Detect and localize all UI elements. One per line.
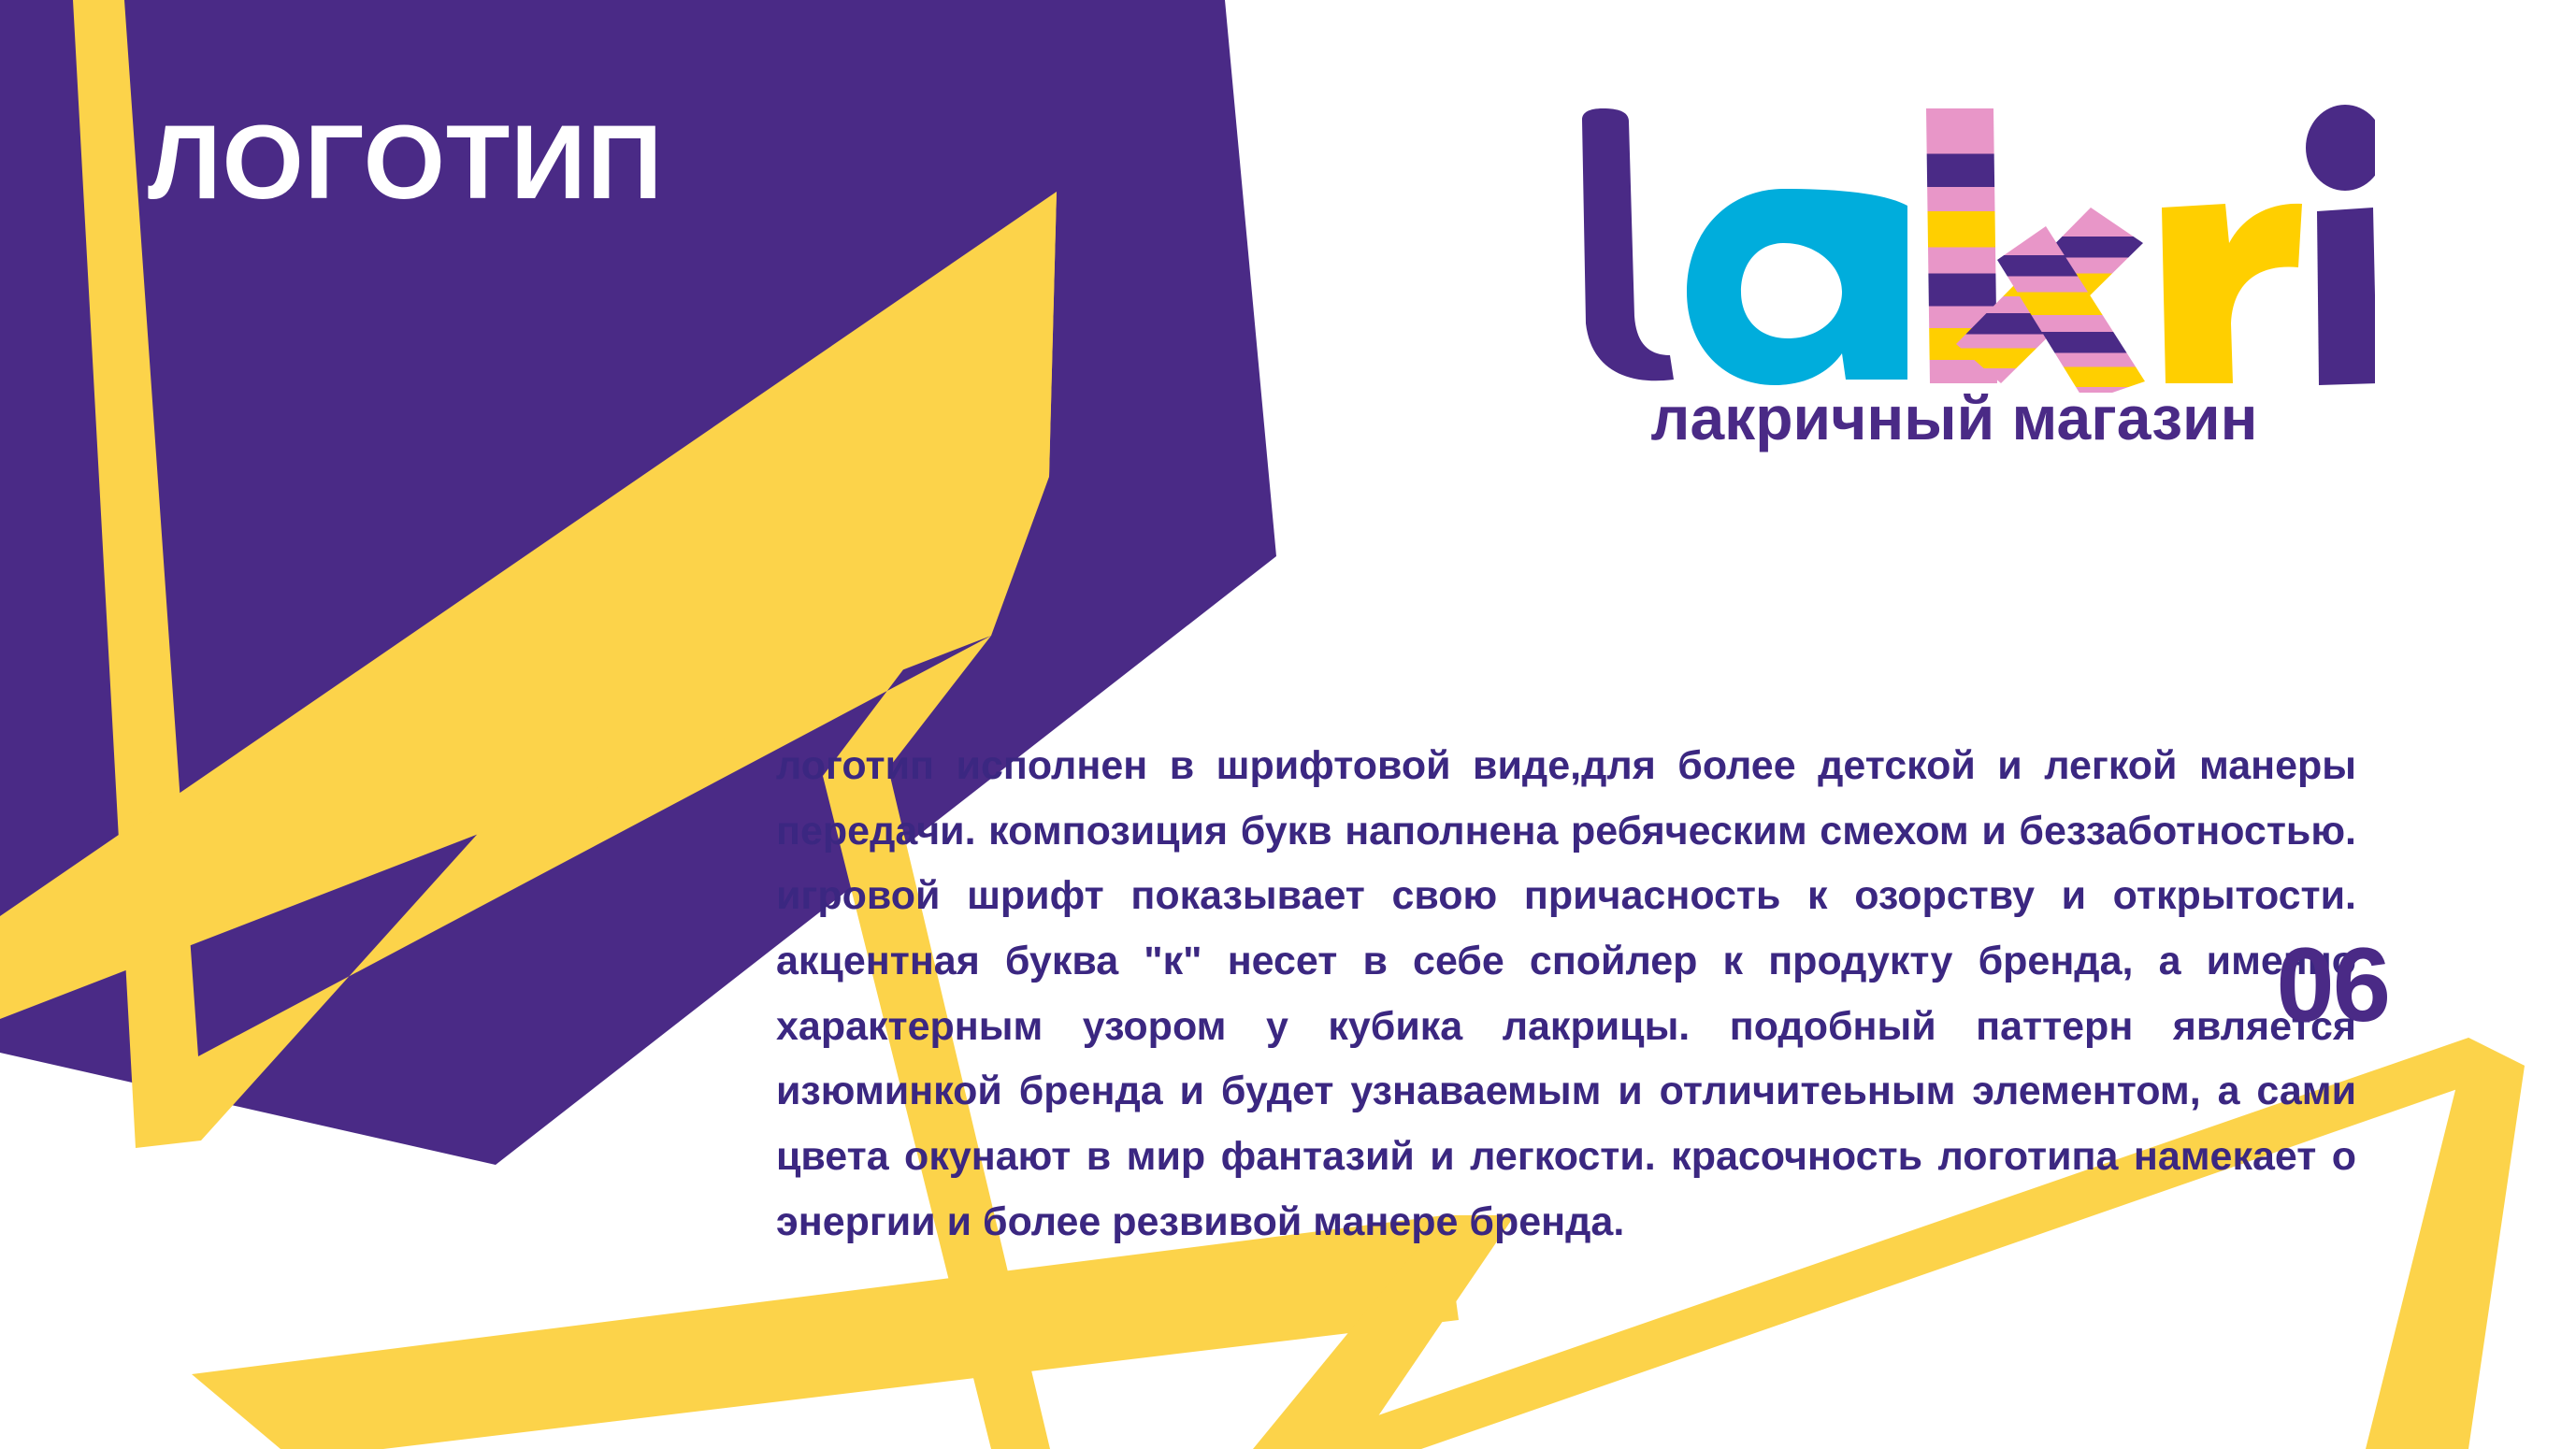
page-title: ЛОГОТИП xyxy=(148,110,663,215)
logo-letter-k xyxy=(1926,108,2145,393)
page-number: 06 xyxy=(2276,933,2389,1038)
logo-letter-a xyxy=(1687,189,1907,385)
description-paragraph: логотип исполнен в шрифтовой виде,для бо… xyxy=(776,734,2356,1255)
logo-lockup: лакричный магазин xyxy=(1533,103,2375,449)
logo-letter-i xyxy=(2306,105,2375,385)
logo-letter-r xyxy=(2162,204,2302,383)
slide-canvas: ЛОГОТИП xyxy=(0,0,2576,1449)
lakri-wordmark-svg xyxy=(1533,103,2375,393)
logo-letter-l xyxy=(1582,108,1674,380)
logo-wordmark xyxy=(1533,103,2375,393)
logo-subtitle: лакричный магазин xyxy=(1533,387,2375,449)
